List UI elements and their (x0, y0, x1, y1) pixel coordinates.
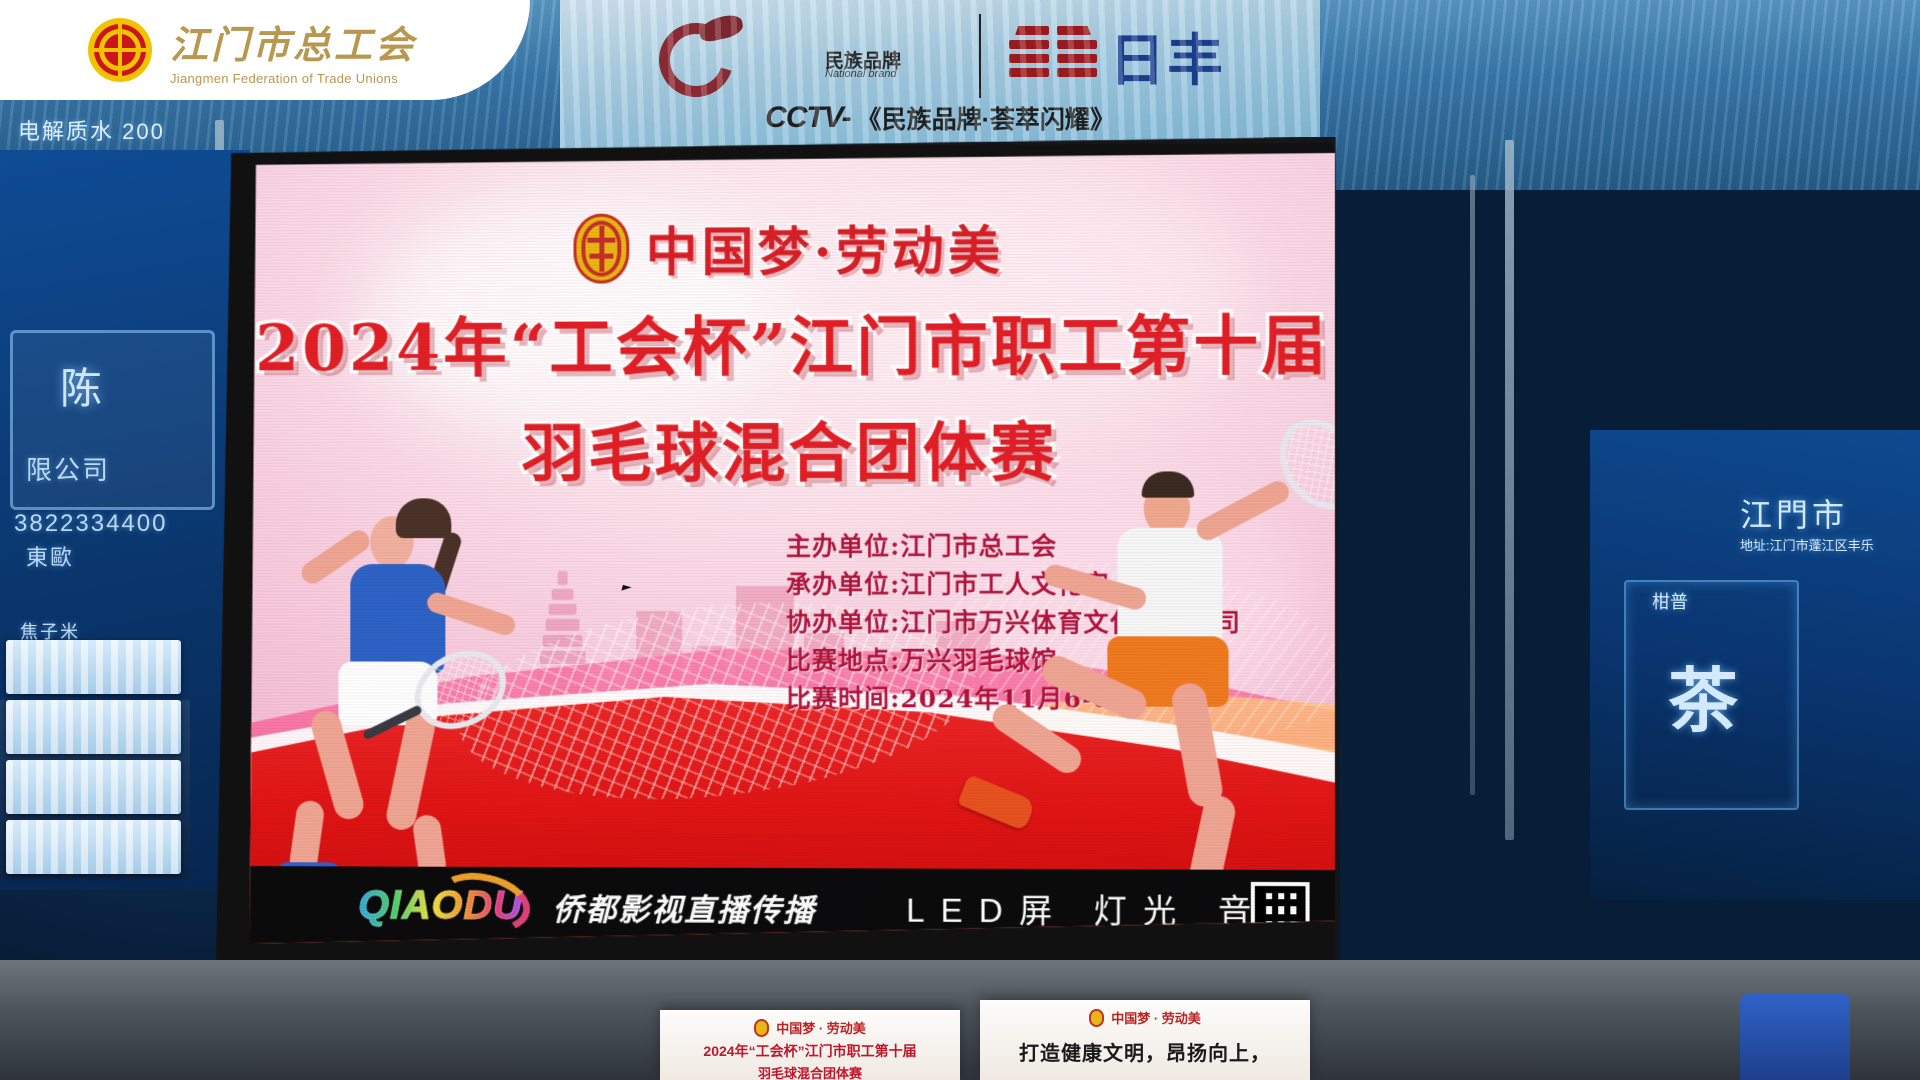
foreground-sign-right: 中国梦 · 劳动美 打造健康文明，昂扬向上， (980, 1000, 1310, 1080)
male-badminton-player (946, 455, 1329, 918)
floor (0, 960, 1920, 1080)
water-pallet-3 (6, 760, 181, 814)
right-booth-wall: 江門市 地址:江门市蓬江区丰乐 柑普 茶 (1590, 430, 1920, 900)
rifeng-logo-icon (1007, 17, 1099, 95)
sign-right-header: 中国梦 · 劳动美 (1111, 1008, 1201, 1027)
led-slogan-text: 中国梦·劳动美 (646, 209, 1005, 286)
truss-pole-right (1505, 140, 1514, 840)
watermark-en-name: Jiangmen Federation of Trade Unions (170, 71, 416, 86)
left-booth-label-3: 3822334400 (14, 510, 167, 538)
female-badminton-player (279, 486, 576, 905)
left-booth-label-4: 東歐 (26, 540, 74, 572)
left-booth-label-2: 限公司 (26, 450, 110, 487)
water-pallet-2 (6, 700, 181, 754)
blue-chair (1740, 994, 1850, 1080)
sign-right-header-row: 中国梦 · 劳动美 (1089, 1008, 1201, 1027)
truss-pole-right-secondary (1470, 175, 1475, 795)
water-pallet-4 (6, 820, 181, 874)
union-emblem-icon (88, 18, 152, 82)
left-booth-label-1: 陈 (60, 355, 102, 416)
sponsor-brand-name: 日丰 (1109, 16, 1225, 97)
national-brand-en: National brand (825, 68, 897, 80)
screenshot-stage: 电解质水 200 陈 限公司 3822334400 東歐 焦子米 江門市 地址:… (0, 0, 1920, 1080)
led-title-line-1: 2024年“工会杯”江门市职工第十届 (250, 294, 1335, 389)
led-slogan-row: 中国梦·劳动美 (250, 207, 1335, 286)
watermark-cn-name: 江门市总工会 (170, 14, 416, 69)
sign-left-header-row: 中国梦 · 劳动美 (754, 1018, 866, 1037)
qiaodu-brand-cn: 侨都影视直播传播 (553, 884, 816, 930)
union-emblem-icon (574, 213, 630, 283)
water-pallet-1 (6, 640, 181, 694)
sign-left-header: 中国梦 · 劳动美 (776, 1018, 866, 1037)
national-brand-cn: 民族品牌 (825, 46, 901, 73)
left-booth-label-0: 电解质水 200 (18, 114, 165, 146)
banner-divider (979, 14, 981, 98)
qiaodu-arc-icon (431, 864, 536, 941)
sign-right-slogan: 打造健康文明，昂扬向上， (1019, 1037, 1271, 1066)
qiaodu-logo: QIAODU (358, 883, 523, 929)
right-booth-label-0: 江門市 (1740, 490, 1848, 536)
cctv-mark: CCTV- (765, 101, 851, 135)
right-booth-label-1: 地址:江门市蓬江区丰乐 (1740, 535, 1874, 554)
sign-left-line-1: 2024年“工会杯”江门市职工第十届 (703, 1041, 916, 1061)
led-screen: 中国梦·劳动美 2024年“工会杯”江门市职工第十届 羽毛球混合团体赛 主办单位… (190, 137, 1340, 1003)
union-emblem-icon (754, 1019, 769, 1037)
led-screen-content: 中国梦·劳动美 2024年“工会杯”江门市职工第十届 羽毛球混合团体赛 主办单位… (250, 153, 1335, 949)
union-emblem-icon (1089, 1009, 1104, 1027)
cctv-program-title: 《民族品牌·荟萃闪耀》 (857, 100, 1115, 136)
right-booth-label-2: 柑普 (1652, 588, 1688, 614)
watermark-logo: 江门市总工会 Jiangmen Federation of Trade Unio… (0, 0, 530, 100)
right-booth-label-3: 茶 (1668, 645, 1738, 746)
sign-left-line-2: 羽毛球混合团体赛 (758, 1063, 862, 1080)
dragon-arc-icon (655, 17, 747, 95)
foreground-sign-left: 中国梦 · 劳动美 2024年“工会杯”江门市职工第十届 羽毛球混合团体赛 (660, 1010, 960, 1080)
